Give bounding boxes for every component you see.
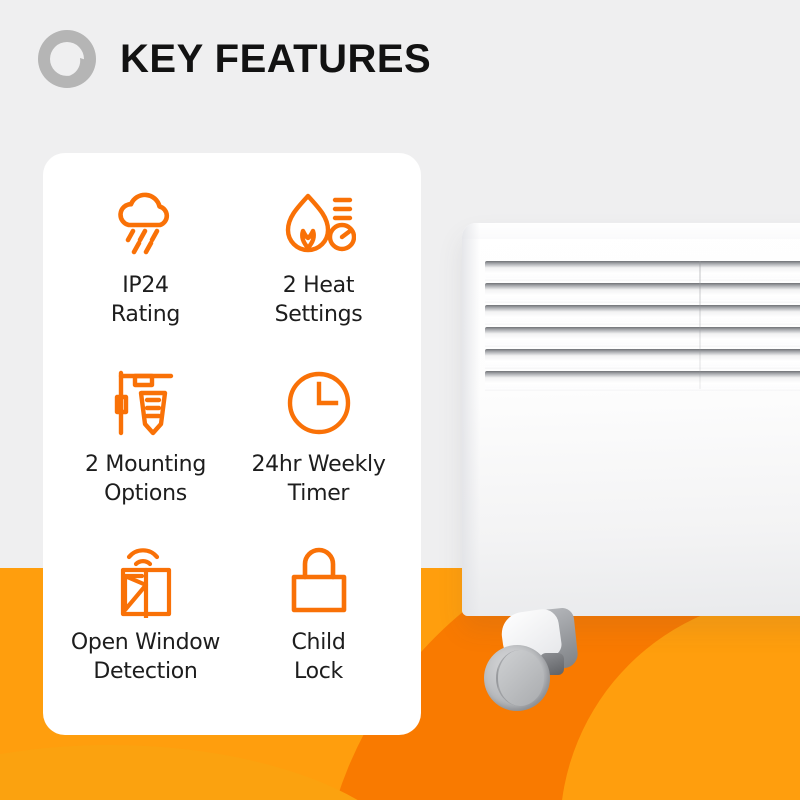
padlock-icon <box>289 544 349 618</box>
flame-dial-icon <box>282 187 356 261</box>
page-header: KEY FEATURES <box>36 28 431 90</box>
key-features-infographic: KEY FEATURES <box>0 0 800 800</box>
feature-label-line2: Lock <box>294 659 343 684</box>
heater-vent-grille <box>485 261 800 389</box>
vent-slot <box>485 327 800 344</box>
feature-label-line1: 2 Heat <box>283 273 354 298</box>
feature-label: 2 Mounting Options <box>85 450 206 508</box>
feature-row: 2 Mounting Options 24hr Weekly Timer <box>59 358 405 537</box>
feature-label-line1: 2 Mounting <box>85 452 206 477</box>
feature-item-ip24-rating[interactable]: IP24 Rating <box>59 179 232 358</box>
rain-cloud-icon <box>111 187 181 261</box>
feature-label: Open Window Detection <box>71 628 220 686</box>
vent-seam <box>699 261 701 389</box>
feature-label-line2: Timer <box>288 481 349 506</box>
caster-wheel-icon <box>484 605 604 715</box>
vent-slot <box>485 305 800 322</box>
vent-slot <box>485 261 800 278</box>
feature-label-line2: Settings <box>275 302 363 327</box>
feature-label-line1: Child <box>292 630 346 655</box>
feature-item-mounting-options[interactable]: 2 Mounting Options <box>59 358 232 537</box>
page-title: KEY FEATURES <box>120 37 431 82</box>
heater-top-edge <box>462 223 800 239</box>
caster-wheel-inner <box>496 650 544 706</box>
heater-body <box>462 223 800 616</box>
wall-mount-bracket-icon <box>113 366 179 440</box>
open-window-signal-icon <box>113 544 179 618</box>
feature-label-line2: Detection <box>93 659 197 684</box>
feature-item-open-window-detection[interactable]: Open Window Detection <box>59 536 232 715</box>
caster-wheel-disc <box>484 645 550 711</box>
circle-swoosh-logo-icon <box>36 28 98 90</box>
feature-label-line1: 24hr Weekly <box>251 452 385 477</box>
feature-label: 2 Heat Settings <box>275 271 363 329</box>
feature-label: IP24 Rating <box>111 271 180 329</box>
feature-item-weekly-timer[interactable]: 24hr Weekly Timer <box>232 358 405 537</box>
vent-slot <box>485 349 800 366</box>
feature-label-line2: Rating <box>111 302 180 327</box>
feature-item-heat-settings[interactable]: 2 Heat Settings <box>232 179 405 358</box>
vent-slot <box>485 283 800 300</box>
clock-icon <box>286 366 352 440</box>
vent-slot <box>485 371 800 388</box>
feature-row: Open Window Detection Child Lock <box>59 536 405 715</box>
feature-row: IP24 Rating <box>59 179 405 358</box>
feature-card: IP24 Rating <box>43 153 421 735</box>
heater-left-shading <box>462 223 480 616</box>
feature-label: 24hr Weekly Timer <box>251 450 385 508</box>
feature-label-line1: IP24 <box>122 273 169 298</box>
feature-label-line2: Options <box>104 481 187 506</box>
feature-label: Child Lock <box>292 628 346 686</box>
product-image-heater <box>462 223 800 623</box>
feature-label-line1: Open Window <box>71 630 220 655</box>
feature-item-child-lock[interactable]: Child Lock <box>232 536 405 715</box>
